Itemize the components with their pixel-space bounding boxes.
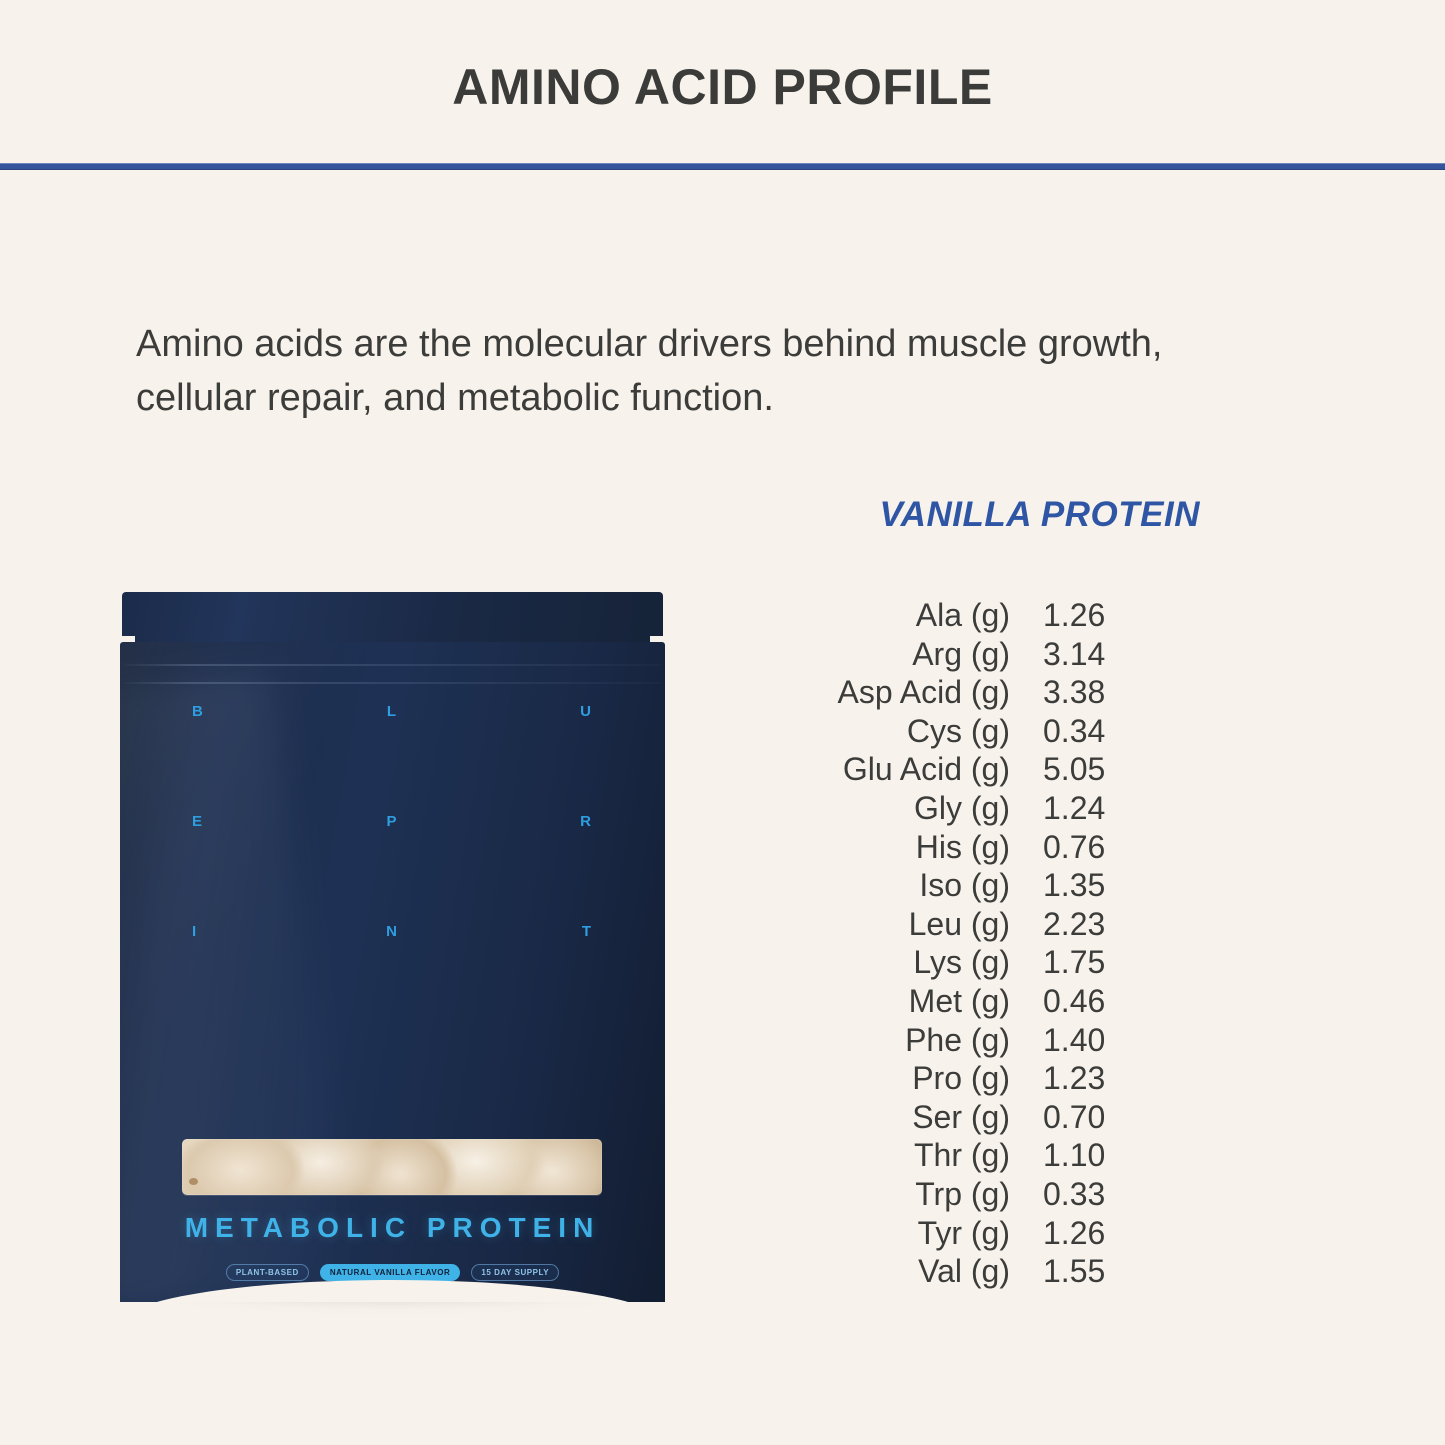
amino-label: Lys (g) [780, 944, 1010, 981]
amino-label: Leu (g) [780, 906, 1010, 943]
amino-value: 1.75 [1010, 944, 1140, 981]
product-pouch-image: B L U E P R I N T METABOLIC PROTEIN PLAN… [120, 592, 665, 1302]
table-row: Iso (g)1.35 [780, 867, 1140, 906]
table-row: Glu Acid (g)5.05 [780, 751, 1140, 790]
amino-label: Pro (g) [780, 1060, 1010, 1097]
pouch-body: B L U E P R I N T METABOLIC PROTEIN PLAN… [120, 642, 665, 1302]
amino-label: Arg (g) [780, 636, 1010, 673]
pouch-top-seal [122, 592, 663, 644]
page-title: AMINO ACID PROFILE [0, 58, 1445, 116]
amino-value: 0.33 [1010, 1176, 1140, 1213]
badge-day-supply: 15 DAY SUPPLY [471, 1264, 559, 1281]
badge-plant-based: PLANT-BASED [226, 1264, 309, 1281]
table-row: Thr (g)1.10 [780, 1137, 1140, 1176]
table-row: Val (g)1.55 [780, 1253, 1140, 1292]
amino-value: 5.05 [1010, 751, 1140, 788]
table-row: Phe (g)1.40 [780, 1022, 1140, 1061]
header-divider [0, 163, 1445, 170]
brand-letter: N [386, 924, 398, 1034]
amino-value: 1.10 [1010, 1137, 1140, 1174]
amino-label: Thr (g) [780, 1137, 1010, 1174]
amino-acid-table: Ala (g)1.26 Arg (g)3.14 Asp Acid (g)3.38… [780, 597, 1140, 1292]
amino-label: Trp (g) [780, 1176, 1010, 1213]
amino-value: 0.46 [1010, 983, 1140, 1020]
zipper-line [124, 664, 661, 666]
brand-letter: R [580, 814, 592, 924]
amino-label: Ala (g) [780, 597, 1010, 634]
amino-value: 0.34 [1010, 713, 1140, 750]
amino-value: 3.38 [1010, 674, 1140, 711]
amino-value: 3.14 [1010, 636, 1140, 673]
amino-label: Iso (g) [780, 867, 1010, 904]
amino-label: Met (g) [780, 983, 1010, 1020]
amino-value: 1.40 [1010, 1022, 1140, 1059]
amino-label: Asp Acid (g) [780, 674, 1010, 711]
amino-value: 0.70 [1010, 1099, 1140, 1136]
product-badges: PLANT-BASED NATURAL VANILLA FLAVOR 15 DA… [120, 1264, 665, 1281]
table-row: Ser (g)0.70 [780, 1099, 1140, 1138]
amino-value: 2.23 [1010, 906, 1140, 943]
amino-label: Cys (g) [780, 713, 1010, 750]
amino-value: 1.35 [1010, 867, 1140, 904]
amino-label: Phe (g) [780, 1022, 1010, 1059]
table-row: Tyr (g)1.26 [780, 1215, 1140, 1254]
table-row: Gly (g)1.24 [780, 790, 1140, 829]
amino-value: 0.76 [1010, 829, 1140, 866]
variant-title: VANILLA PROTEIN [700, 495, 1200, 535]
zipper-line [124, 682, 661, 684]
amino-value: 1.26 [1010, 1215, 1140, 1252]
table-row: Asp Acid (g)3.38 [780, 674, 1140, 713]
badge-natural-vanilla-flavor: NATURAL VANILLA FLAVOR [320, 1264, 461, 1281]
amino-label: Gly (g) [780, 790, 1010, 827]
brand-letter-grid: B L U E P R I N T [192, 704, 592, 1034]
table-row: His (g)0.76 [780, 829, 1140, 868]
vanilla-seed-icon [189, 1178, 198, 1185]
brand-letter: E [192, 814, 203, 924]
brand-letter: L [387, 704, 397, 814]
amino-value: 1.26 [1010, 597, 1140, 634]
amino-label: Glu Acid (g) [780, 751, 1010, 788]
table-row: Arg (g)3.14 [780, 636, 1140, 675]
brand-letter: U [580, 704, 592, 814]
table-row: Lys (g)1.75 [780, 944, 1140, 983]
brand-letter: I [192, 924, 197, 1034]
brand-letter: B [192, 704, 204, 814]
table-row: Cys (g)0.34 [780, 713, 1140, 752]
table-row: Ala (g)1.26 [780, 597, 1140, 636]
amino-value: 1.24 [1010, 790, 1140, 827]
table-row: Pro (g)1.23 [780, 1060, 1140, 1099]
amino-label: Ser (g) [780, 1099, 1010, 1136]
amino-value: 1.55 [1010, 1253, 1140, 1290]
product-window [182, 1139, 602, 1195]
intro-paragraph: Amino acids are the molecular drivers be… [136, 318, 1286, 426]
table-row: Leu (g)2.23 [780, 906, 1140, 945]
amino-label: Tyr (g) [780, 1215, 1010, 1252]
table-row: Trp (g)0.33 [780, 1176, 1140, 1215]
table-row: Met (g)0.46 [780, 983, 1140, 1022]
pouch-bottom-gusset [120, 1280, 665, 1302]
brand-letter: T [582, 924, 592, 1034]
brand-letter: P [386, 814, 397, 924]
amino-label: Val (g) [780, 1253, 1010, 1290]
amino-value: 1.23 [1010, 1060, 1140, 1097]
product-name: METABOLIC PROTEIN [120, 1212, 665, 1244]
amino-label: His (g) [780, 829, 1010, 866]
